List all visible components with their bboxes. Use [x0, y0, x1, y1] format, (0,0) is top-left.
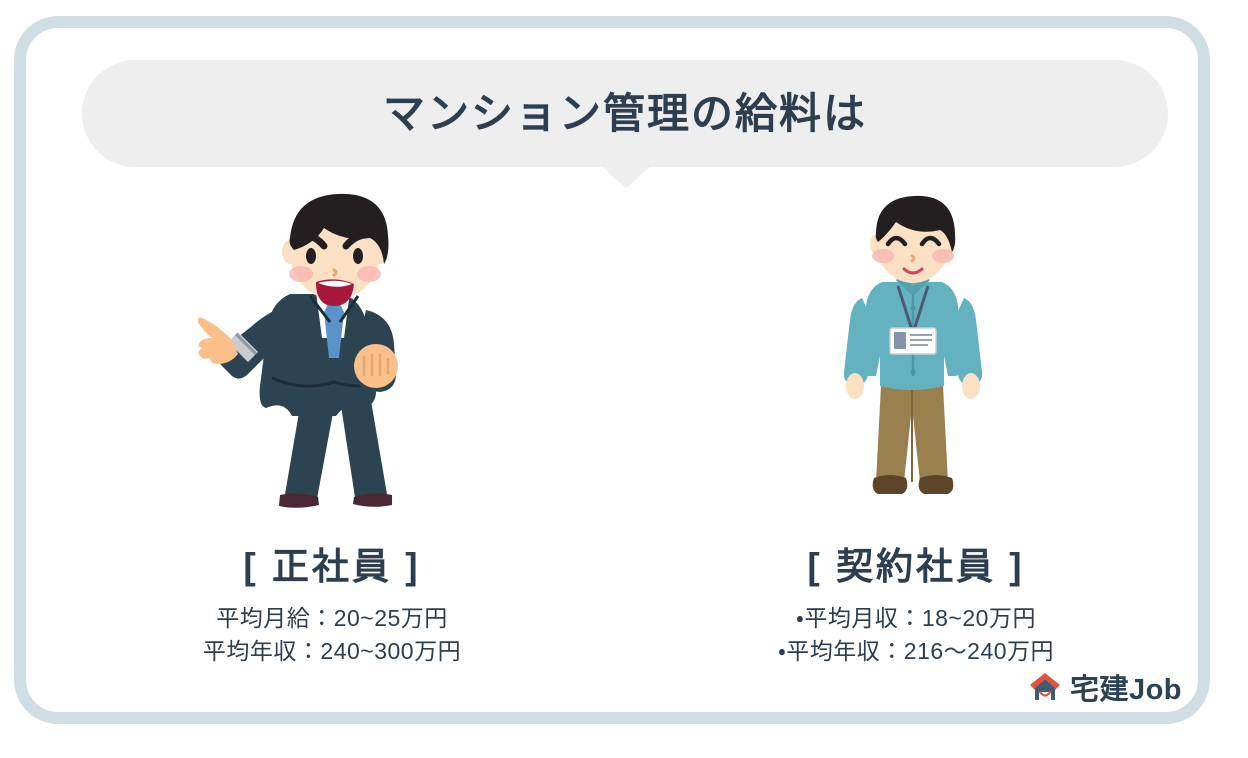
stat-monthly-full-time: 平均月給：20~25万円 — [203, 602, 461, 635]
column-full-time: [ 正社員 ] 平均月給：20~25万円 平均年収：240~300万円 — [40, 190, 624, 660]
pointing-businessman-illustration — [198, 190, 466, 520]
infographic-canvas: マンション管理の給料は — [0, 0, 1248, 758]
brand-logo: 宅建Job — [1029, 666, 1182, 708]
pointing-businessman-svg — [198, 190, 466, 520]
stat-annual-contract: ・平均年収：216〜240万円 — [778, 635, 1054, 668]
stat-annual-full-time: 平均年収：240~300万円 — [203, 635, 461, 668]
column-title-full-time: [ 正社員 ] — [243, 536, 420, 590]
column-stats-contract: ・平均月収：18~20万円 ・平均年収：216〜240万円 — [778, 602, 1054, 667]
column-contract: [ 契約社員 ] ・平均月収：18~20万円 ・平均年収：216〜240万円 — [624, 190, 1208, 660]
column-title-contract: [ 契約社員 ] — [807, 536, 1024, 590]
column-stats-full-time: 平均月給：20~25万円 平均年収：240~300万円 — [203, 602, 461, 667]
stat-monthly-contract: ・平均月収：18~20万円 — [778, 602, 1054, 635]
standing-staff-illustration — [826, 190, 1006, 520]
title-speech-bubble: マンション管理の給料は — [82, 60, 1168, 167]
page-title: マンション管理の給料は — [383, 93, 867, 135]
brand-name: 宅建Job — [1070, 666, 1182, 708]
columns-container: [ 正社員 ] 平均月給：20~25万円 平均年収：240~300万円 — [40, 190, 1208, 660]
speech-bubble-tail — [601, 166, 651, 188]
standing-staff-svg — [826, 190, 1006, 520]
house-smile-icon — [1029, 672, 1061, 702]
